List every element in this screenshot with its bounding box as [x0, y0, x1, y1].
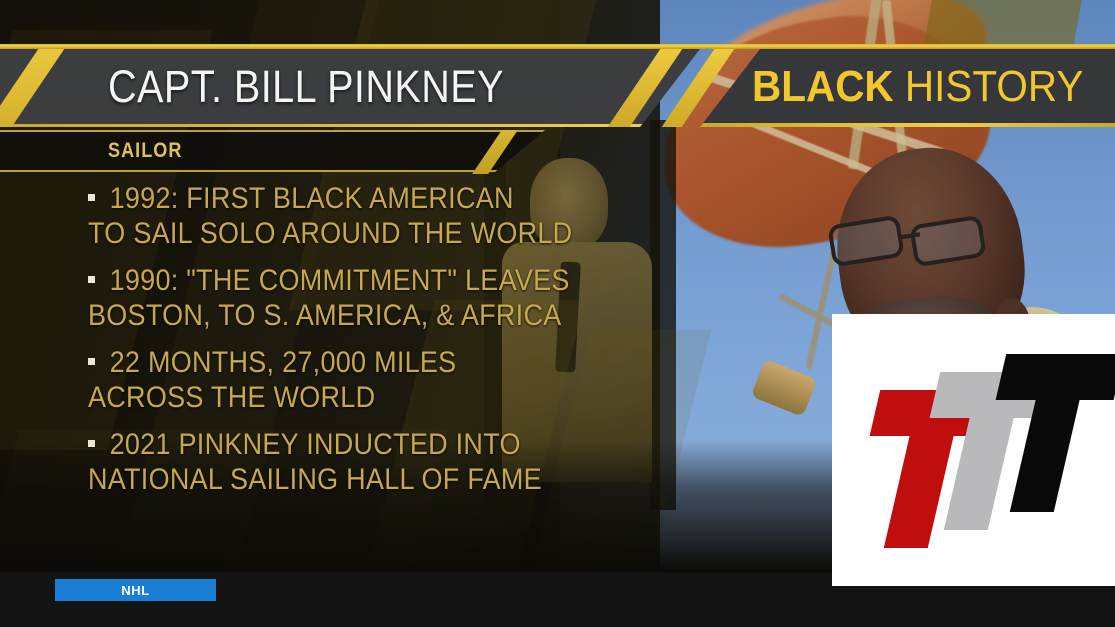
fact-line: 2021 PINKNEY INDUCTED INTO [88, 427, 511, 462]
fact-item: 2021 PINKNEY INDUCTED INTONATIONAL SAILI… [88, 427, 558, 497]
fact-line: NATIONAL SAILING HALL OF FAME [88, 462, 511, 497]
league-chip-label: NHL [121, 583, 150, 598]
fact-item: 1992: FIRST BLACK AMERICANTO SAIL SOLO A… [88, 181, 558, 251]
fact-list: 1992: FIRST BLACK AMERICANTO SAIL SOLO A… [88, 181, 558, 509]
fact-line: 1992: FIRST BLACK AMERICAN [88, 181, 511, 216]
fact-line: 1990: "THE COMMITMENT" LEAVES [88, 263, 511, 298]
watermark-logo-card [832, 314, 1115, 586]
brand-title-light: HISTORY [894, 62, 1084, 111]
fact-line: TO SAIL SOLO AROUND THE WORLD [88, 216, 511, 251]
brand-title: BLACK HISTORY [752, 56, 1083, 118]
fact-text: 1990: "THE COMMITMENT" LEAVESBOSTON, TO … [88, 263, 558, 333]
fact-item: 22 MONTHS, 27,000 MILESACROSS THE WORLD [88, 345, 558, 415]
fact-line: BOSTON, TO S. AMERICA, & AFRICA [88, 298, 511, 333]
brand-title-bold: BLACK [752, 62, 894, 111]
fact-text: 22 MONTHS, 27,000 MILESACROSS THE WORLD [88, 345, 558, 415]
fact-line: 22 MONTHS, 27,000 MILES [88, 345, 511, 380]
page-title: CAPT. BILL PINKNEY [108, 57, 504, 117]
league-chip-nhl[interactable]: NHL [55, 579, 216, 601]
fact-line: ACROSS THE WORLD [88, 380, 511, 415]
subtitle-bar [0, 130, 545, 172]
ttt-logo-icon [870, 356, 1080, 546]
ghost-letterform-corner [923, 0, 1087, 50]
broadcast-lower-third-graphic: CAPT. BILL PINKNEY BLACK HISTORY SAILOR … [0, 0, 1115, 627]
fact-text: 2021 PINKNEY INDUCTED INTONATIONAL SAILI… [88, 427, 558, 497]
top-gold-rule [0, 44, 1115, 49]
fact-text: 1992: FIRST BLACK AMERICANTO SAIL SOLO A… [88, 181, 558, 251]
subtitle-role: SAILOR [108, 136, 182, 166]
fact-item: 1990: "THE COMMITMENT" LEAVESBOSTON, TO … [88, 263, 558, 333]
